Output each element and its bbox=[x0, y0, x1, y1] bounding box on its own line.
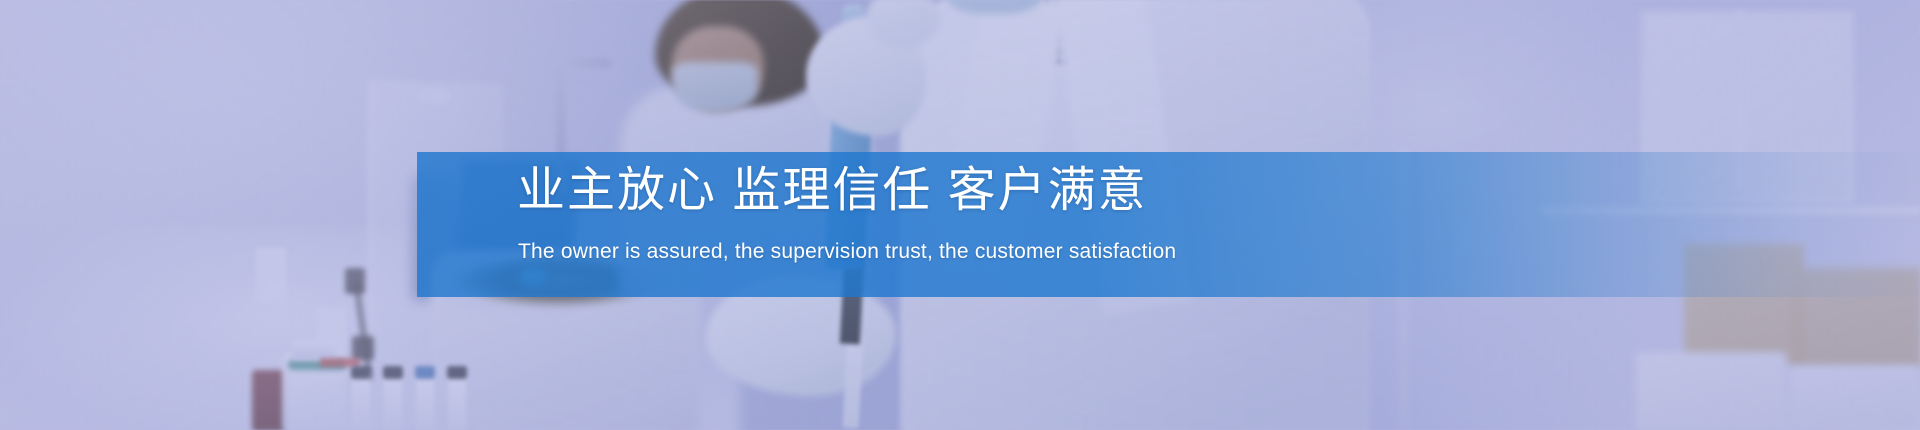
page-subtitle: The owner is assured, the supervision tr… bbox=[518, 240, 1176, 264]
hero-banner: 业主放心 监理信任 客户满意 The owner is assured, the… bbox=[0, 0, 1920, 430]
headline-text-block: 业主放心 监理信任 客户满意 The owner is assured, the… bbox=[417, 152, 1920, 297]
page-title: 业主放心 监理信任 客户满意 bbox=[517, 164, 1148, 218]
